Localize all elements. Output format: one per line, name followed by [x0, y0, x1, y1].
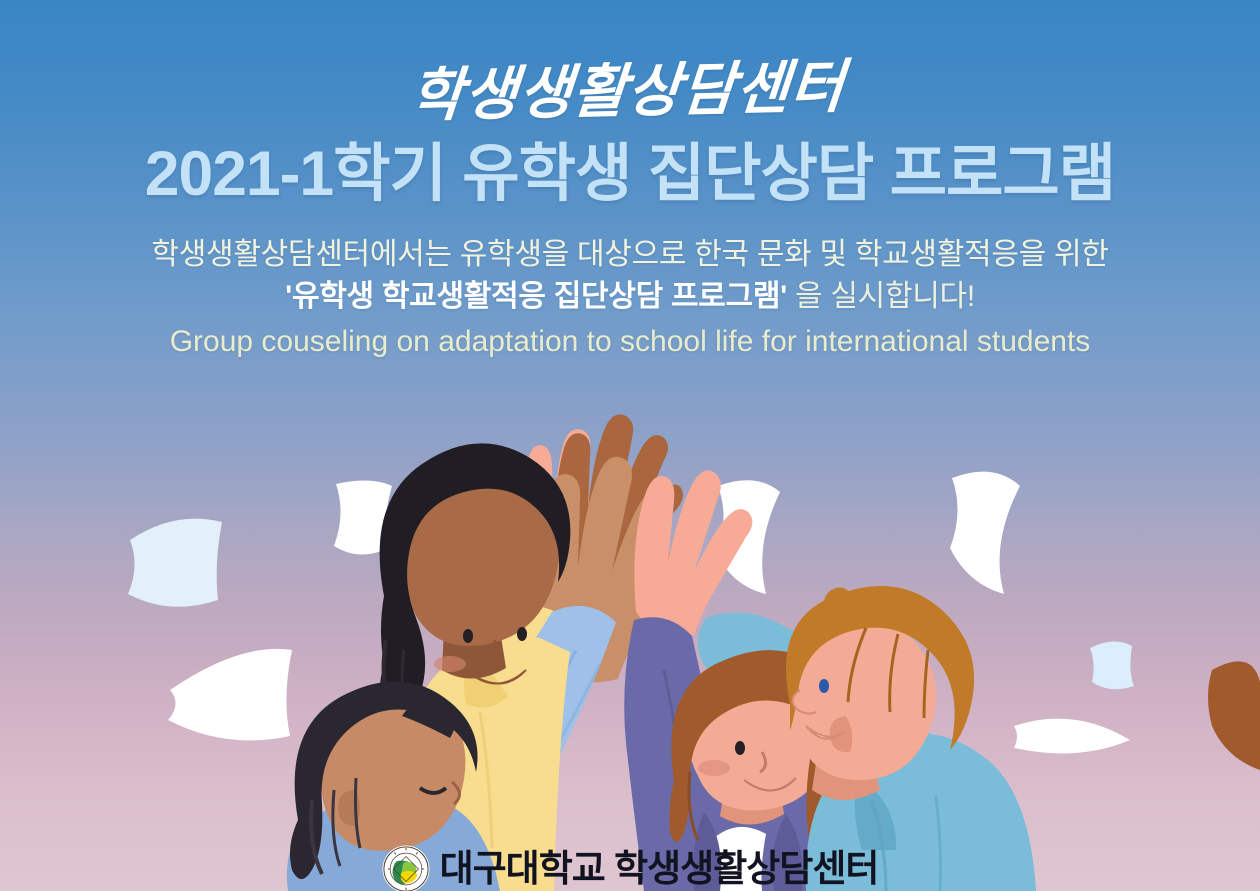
purple-woman-eye — [735, 741, 745, 755]
organization-name: 대구대학교 학생생활상담센터 — [440, 845, 879, 891]
footer-branding: 대구대학교 학생생활상담센터 — [0, 845, 1260, 891]
paper-left-upper — [128, 519, 222, 607]
program-name-quoted: '유학생 학교생활적응 집단상담 프로그램' — [285, 280, 787, 313]
description-line-2: '유학생 학교생활적응 집단상담 프로그램' 을 실시합니다! — [0, 276, 1260, 319]
daegu-university-emblem-icon — [382, 845, 430, 891]
far-right-hair — [1208, 661, 1260, 770]
yellow-woman-eye-right — [517, 627, 527, 641]
description-block: 학생생활상담센터에서는 유학생을 대상으로 한국 문화 및 학교생활적응을 위한… — [0, 208, 1260, 365]
purple-woman-blush — [698, 760, 730, 776]
paper-right-upper — [950, 472, 1020, 594]
blond-man-eye — [819, 679, 829, 693]
paper-right-small — [1090, 641, 1134, 689]
page-title: 2021-1학기 유학생 집단상담 프로그램 — [6, 120, 1253, 208]
description-line-english: Group couseling on adaptation to school … — [0, 319, 1260, 364]
center-name-script: 학생생활상담센터 — [0, 0, 1260, 133]
paper-left-lower — [168, 649, 292, 741]
poster-canvas: 학생생활상담센터 2021-1학기 유학생 집단상담 프로그램 학생생활상담센터… — [0, 0, 1260, 891]
paper-right-lower — [1014, 719, 1130, 754]
figure-far-right-partial — [1208, 661, 1260, 770]
yellow-woman-blush — [434, 656, 466, 672]
description-line-1: 학생생활상담센터에서는 유학생을 대상으로 한국 문화 및 학교생활적응을 위한 — [0, 234, 1260, 277]
poster-text-stack: 학생생활상담센터 2021-1학기 유학생 집단상담 프로그램 학생생활상담센터… — [0, 0, 1260, 364]
yellow-woman-eye-left — [463, 629, 473, 643]
program-name-tail: 을 실시합니다! — [787, 280, 975, 313]
